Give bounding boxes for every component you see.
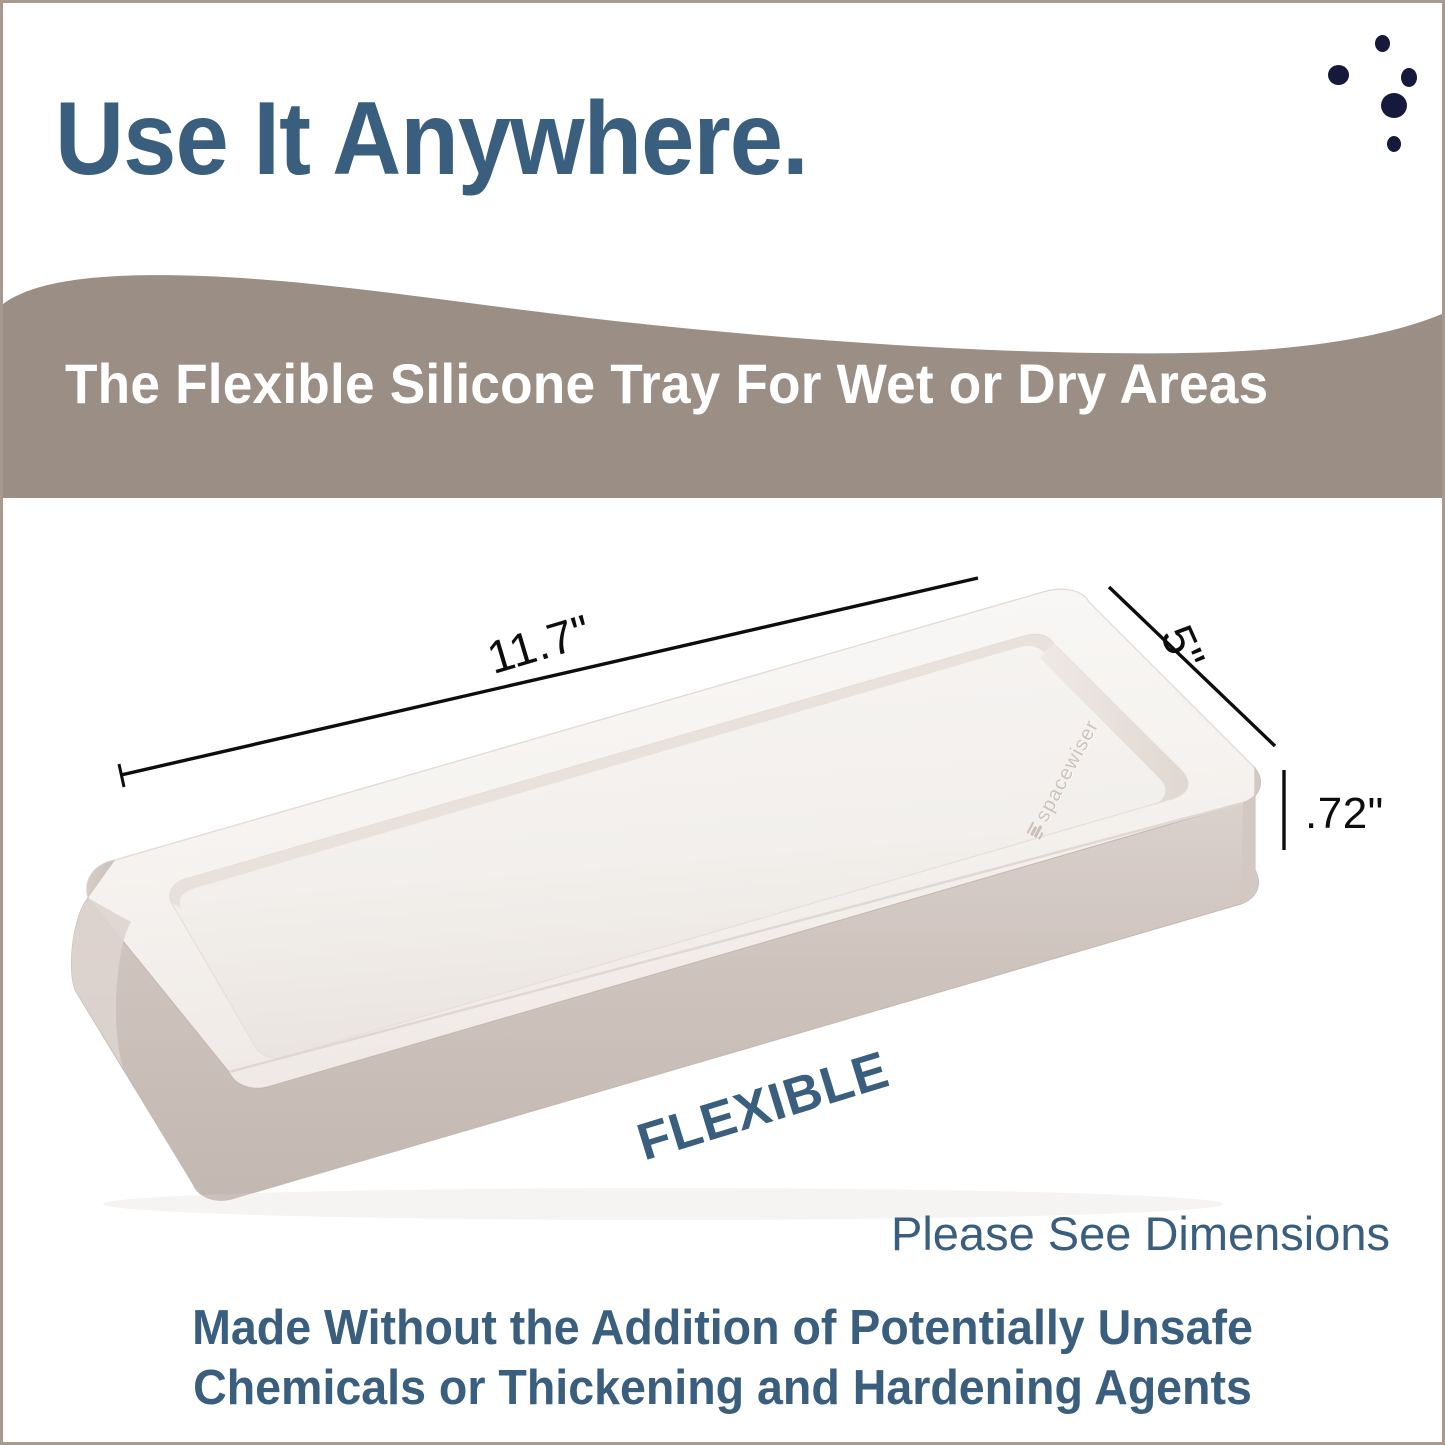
decorative-dot xyxy=(1401,68,1417,87)
dimension-label-height: .72" xyxy=(1305,789,1384,839)
page-title: Use It Anywhere. xyxy=(55,87,808,191)
product-photo xyxy=(3,498,1442,1298)
banner-subtitle: The Flexible Silicone Tray For Wet or Dr… xyxy=(65,351,1268,416)
dot-cluster-decoration xyxy=(1303,33,1438,158)
safety-claim-line-2: Chemicals or Thickening and Hardening Ag… xyxy=(39,1359,1406,1419)
decorative-dot xyxy=(1328,65,1349,85)
see-dimensions-note: Please See Dimensions xyxy=(891,1206,1390,1261)
safety-claim-line-1: Made Without the Addition of Potentially… xyxy=(39,1299,1406,1359)
product-infographic: Use It Anywhere. The Flexible Silicone T… xyxy=(0,0,1445,1445)
subtitle-banner: The Flexible Silicone Tray For Wet or Dr… xyxy=(3,258,1442,498)
decorative-dot xyxy=(1387,136,1401,152)
tray-illustration xyxy=(3,498,1442,1298)
decorative-dot xyxy=(1375,35,1390,52)
safety-claim: Made Without the Addition of Potentially… xyxy=(39,1299,1406,1419)
decorative-dot xyxy=(1381,93,1407,118)
